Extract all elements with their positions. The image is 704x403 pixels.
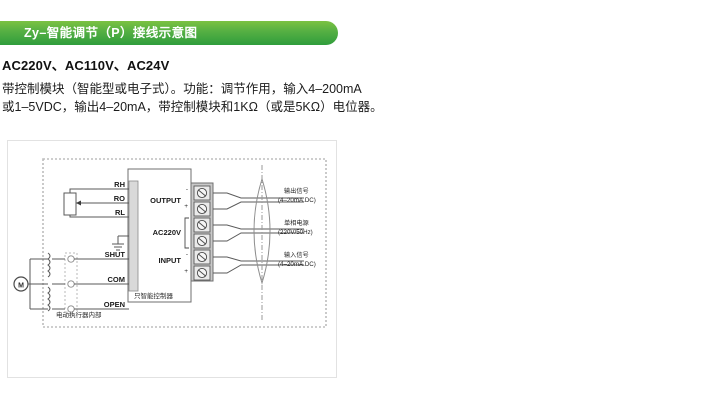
limit-switch-contact-com xyxy=(68,281,74,287)
description-line-1: 带控制模块（智能型或电子式）。功能：调节作用，输入4–200mA xyxy=(2,80,402,98)
page-root: Zy–智能调节（P）接线示意图 AC220V、AC110V、AC24V 带控制模… xyxy=(0,0,704,403)
wiring-diagram-panel: M RH RO RL SHUT COM OPEN 只智能控制器 xyxy=(7,140,337,378)
signal-label-output-sub: (4–20mA.DC) xyxy=(278,197,316,204)
voltage-heading: AC220V、AC110V、AC24V xyxy=(2,55,169,74)
signal-label-input-title: 输入信号 xyxy=(284,251,309,259)
terminal-label-ro: RO xyxy=(114,194,125,203)
screw-terminal-ac-l xyxy=(194,218,210,232)
description-line-2: 或1–5VDC，输出4–20mA，带控制模块和1KΩ（或是5KΩ）电位器。 xyxy=(2,98,402,116)
screw-terminal-output-minus xyxy=(194,186,210,200)
motor-winding-upper xyxy=(48,253,50,277)
motor-leads xyxy=(30,259,48,309)
polarity-output-plus: + xyxy=(184,203,188,210)
terminal-label-rl: RL xyxy=(115,208,125,217)
banner-title: Zy–智能调节（P）接线示意图 xyxy=(24,21,197,45)
terminal-label-com: COM xyxy=(108,275,126,284)
screw-terminal-input-minus xyxy=(194,250,210,264)
screw-terminal-ac-n xyxy=(194,234,210,248)
polarity-output-minus: - xyxy=(186,186,188,193)
signal-label-input-sub: (4–20mA.DC) xyxy=(278,261,316,268)
polarity-input-plus: + xyxy=(184,268,188,275)
motor-symbol-label: M xyxy=(18,283,24,290)
controller-left-strip xyxy=(129,181,138,291)
terminal-label-rh: RH xyxy=(114,180,125,189)
section-banner: Zy–智能调节（P）接线示意图 xyxy=(0,21,338,45)
potentiometer-symbol xyxy=(64,193,76,215)
limit-switch-contact-shut xyxy=(68,256,74,262)
screw-terminal-input-plus xyxy=(194,266,210,280)
description-block: 带控制模块（智能型或电子式）。功能：调节作用，输入4–200mA 或1–5VDC… xyxy=(2,80,402,116)
polarity-input-minus: - xyxy=(186,251,188,258)
wiring-diagram: M RH RO RL SHUT COM OPEN 只智能控制器 xyxy=(8,141,338,379)
signal-label-power-sub: (220V/50Hz) xyxy=(278,229,313,236)
screw-terminal-output-plus xyxy=(194,202,210,216)
terminal-label-open: OPEN xyxy=(104,300,125,309)
controller-caption: 只智能控制器 xyxy=(134,291,174,300)
enclosure-caption: 电动执行器内部 xyxy=(56,310,102,319)
terminal-label-shut: SHUT xyxy=(105,250,126,259)
terminal-group-label-input: INPUT xyxy=(159,256,182,265)
signal-label-power-title: 单相电源 xyxy=(284,219,309,227)
potentiometer-wiper-arrow xyxy=(76,201,81,206)
motor-winding-lower xyxy=(48,287,50,311)
terminal-group-label-output: OUTPUT xyxy=(150,196,181,205)
terminal-group-label-ac220v: AC220V xyxy=(153,228,181,237)
signal-label-output-title: 输出信号 xyxy=(284,187,309,195)
